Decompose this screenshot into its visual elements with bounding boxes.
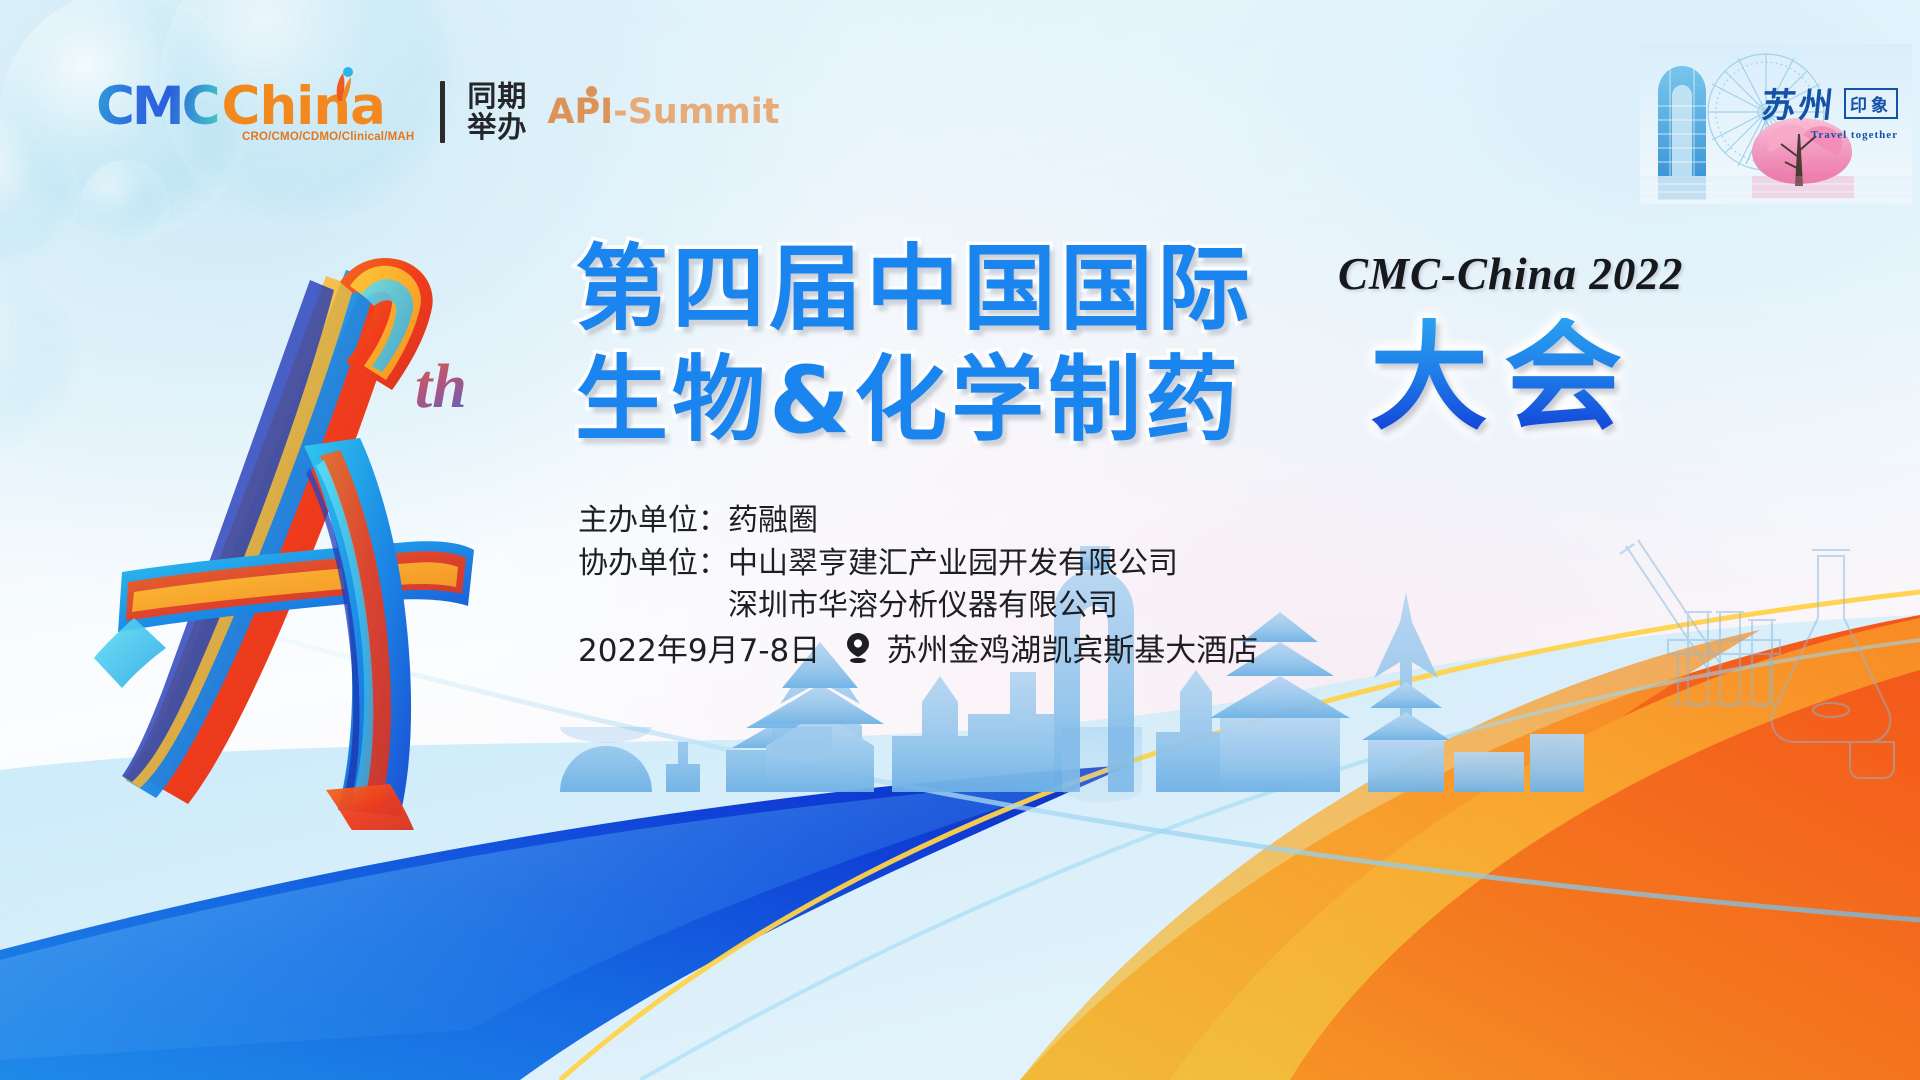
logo-row: CMC China CRO/CMO/CDMO/Clinical/MAH 同期 举… (96, 80, 780, 143)
organizer-row: 深圳市华溶分析仪器有限公司 (578, 585, 1178, 628)
china-wordmark: China (222, 80, 385, 133)
organizer-row: 主办单位： 药融圈 (578, 500, 1178, 543)
summit-wordmark: -Summit (613, 92, 779, 132)
cmc-china-logo[interactable]: CMC China CRO/CMO/CDMO/Clinical/MAH (96, 80, 414, 143)
event-date: 2022年9月7-8日 (578, 625, 820, 670)
event-details: 2022年9月7-8日 苏州金鸡湖凯宾斯基大酒店 (578, 625, 1258, 670)
suzhou-tagline: Travel together (1762, 129, 1898, 141)
organizer-value: 深圳市华溶分析仪器有限公司 (728, 585, 1118, 628)
ribbon-number-four-icon (78, 250, 498, 830)
organizer-value: 药融圈 (728, 500, 818, 543)
concurrent-label: 同期 举办 (467, 81, 527, 142)
lab-glassware-line-art-icon (1604, 520, 1904, 780)
api-dot-icon (586, 86, 597, 97)
suzhou-seal: 印象 (1844, 88, 1898, 119)
suzhou-badge: 苏州印象 Travel together (1640, 44, 1912, 204)
organizer-row: 协办单位： 中山翠亨建汇产业园开发有限公司 (578, 543, 1178, 586)
vertical-divider-icon (440, 81, 445, 143)
ribbon-flourish-icon (329, 67, 355, 101)
water-reflection-icon (1640, 176, 1912, 204)
organizer-label (578, 585, 728, 628)
suzhou-city-name: 苏州 (1759, 78, 1838, 127)
map-pin-icon (846, 633, 870, 663)
title-tail: 大会 (1370, 318, 1638, 436)
conference-poster: th CMC China CRO/CMO/CDMO/Clinical/MAH 同… (0, 0, 1920, 1080)
organizer-block: 主办单位： 药融圈 协办单位： 中山翠亨建汇产业园开发有限公司 深圳市华溶分析仪… (578, 500, 1178, 628)
cmc-wordmark: CMC (96, 80, 218, 133)
organizer-label: 协办单位： (578, 543, 728, 586)
edition-ordinal: th (415, 352, 467, 423)
organizer-value: 中山翠亨建汇产业园开发有限公司 (728, 543, 1178, 586)
suzhou-text-lockup: 苏州印象 Travel together (1762, 78, 1898, 141)
organizer-label: 主办单位： (578, 500, 728, 543)
api-summit-logo[interactable]: API-Summit (547, 92, 779, 132)
english-title: CMC-China 2022 (1338, 248, 1683, 300)
api-wordmark: API (547, 92, 613, 132)
event-venue: 苏州金鸡湖凯宾斯基大酒店 (886, 625, 1258, 670)
title-line-2: 生物&化学制药 (575, 351, 1865, 450)
